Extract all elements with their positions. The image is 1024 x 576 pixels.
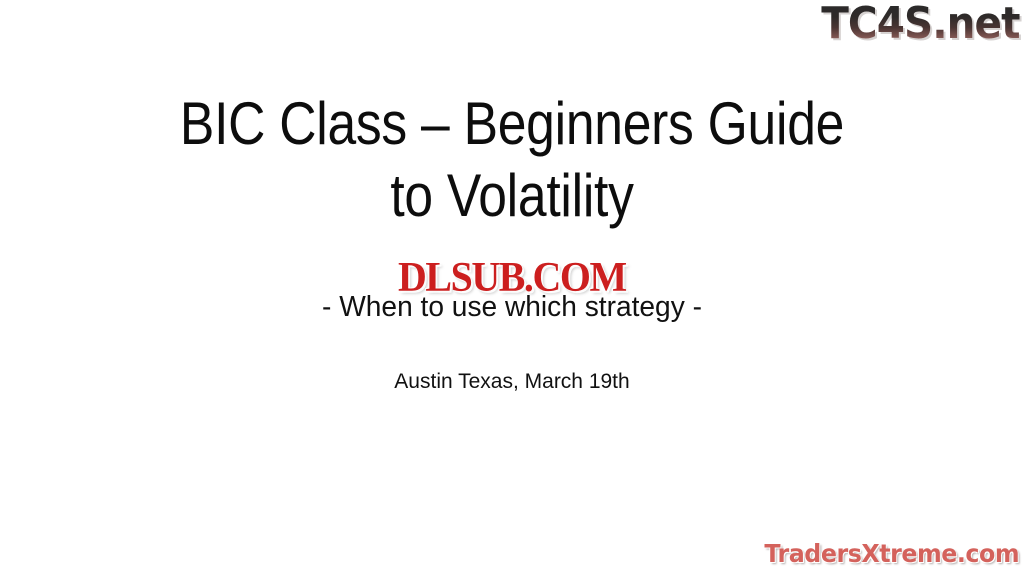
slide-title: BIC Class – Beginners Guide to Volatilit… [0,88,1024,232]
event-date-line: Austin Texas, March 19th [0,369,1024,395]
presentation-slide: TC4S.net TC4S.net BIC Class – Beginners … [0,0,1024,576]
slide-title-line-1: BIC Class – Beginners Guide [72,88,953,160]
slide-subtitle: - When to use which strategy - [15,290,1008,324]
site-logo-tc4s: TC4S.net [822,1,1020,47]
slide-title-line-2: to Volatility [72,160,953,232]
brand-footer-tradersxtreme: TradersXtreme.com [764,540,1019,568]
